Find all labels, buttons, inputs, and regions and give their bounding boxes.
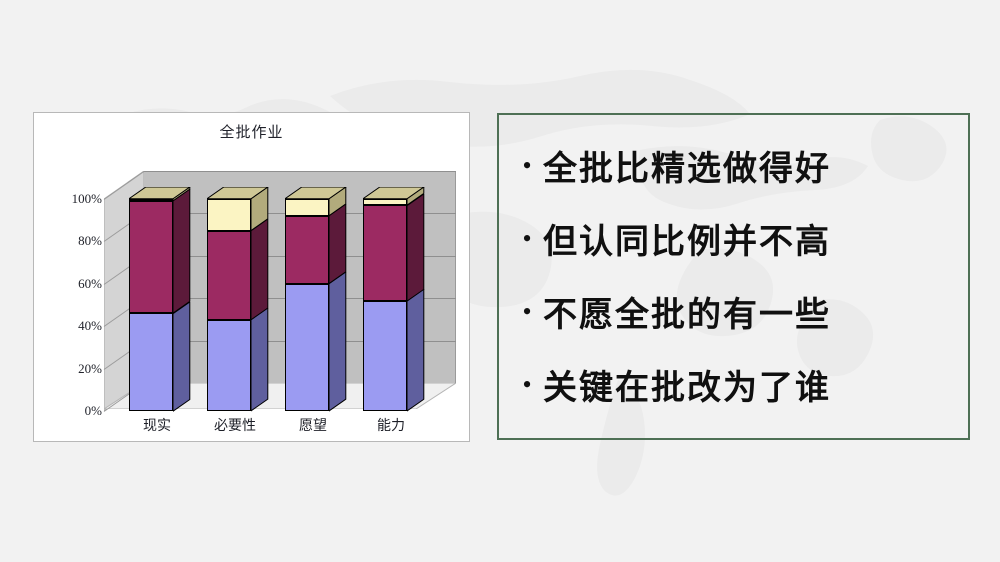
bar-column[interactable] [363,171,424,409]
bar-segment-side [407,194,426,303]
bullet-text: 但认同比例并不高 [537,214,831,263]
bar-segment-side [407,289,426,413]
y-axis-tick-label: 0% [40,403,102,419]
bar-column[interactable] [207,171,268,409]
bullet-item: • 但认同比例并不高 [517,202,958,275]
x-axis-category-label: 能力 [377,415,405,435]
slide-canvas: 全批作业 0%20%40%60%80%100% 现实必要性愿望能力 [0,0,1000,562]
x-axis-category-label: 现实 [143,415,171,435]
bar-segment[interactable] [129,201,173,313]
bar-segment-side [173,302,192,413]
bar-segment[interactable] [207,231,251,320]
bullet-marker-icon: • [517,372,537,398]
bullet-marker-icon: • [517,299,537,325]
bar-segment[interactable] [363,301,407,411]
y-axis-labels: 0%20%40%60%80%100% [40,171,102,409]
bar-segment-side [173,189,192,315]
chart-plot-area: 0%20%40%60%80%100% 现实必要性愿望能力 [104,171,456,409]
x-axis-category-label: 必要性 [214,415,256,435]
bar-segment-top [285,187,348,201]
bullet-marker-icon: • [517,153,537,179]
y-axis-tick-label: 100% [40,191,102,207]
y-axis-tick-label: 80% [40,233,102,249]
y-axis-tick-label: 40% [40,318,102,334]
bar-segment-side [329,272,348,413]
chart-title: 全批作业 [34,121,469,142]
bar-segment-side [251,219,270,322]
bar-column[interactable] [129,171,190,409]
y-axis-tick-label: 60% [40,276,102,292]
bullet-marker-icon: • [517,226,537,252]
bar-segment-top [207,187,270,201]
bullet-item: • 关键在批改为了谁 [517,348,958,421]
bar-column[interactable] [285,171,346,409]
bar-segment[interactable] [285,216,329,284]
bullet-text: 不愿全批的有一些 [537,287,831,336]
bar-segment-side [251,308,270,413]
bar-segment-top [129,187,192,201]
y-axis-tick-label: 20% [40,361,102,377]
x-axis-category-label: 愿望 [299,415,327,435]
bullet-text: 全批比精选做得好 [537,141,831,190]
bar-segment[interactable] [285,284,329,411]
bullet-item: • 全批比精选做得好 [517,129,958,202]
bar-segment[interactable] [285,199,329,216]
bullet-text-panel[interactable]: • 全批比精选做得好 • 但认同比例并不高 • 不愿全批的有一些 • 关键在批改… [497,113,970,440]
bar-segment[interactable] [129,313,173,411]
bar-segment[interactable] [363,205,407,300]
bar-segment-top [363,187,426,201]
bar-segment[interactable] [207,320,251,411]
bullet-text: 关键在批改为了谁 [537,360,831,409]
bullet-item: • 不愿全批的有一些 [517,275,958,348]
bar-segment[interactable] [207,199,251,231]
chart-panel[interactable]: 全批作业 0%20%40%60%80%100% 现实必要性愿望能力 [33,112,470,442]
